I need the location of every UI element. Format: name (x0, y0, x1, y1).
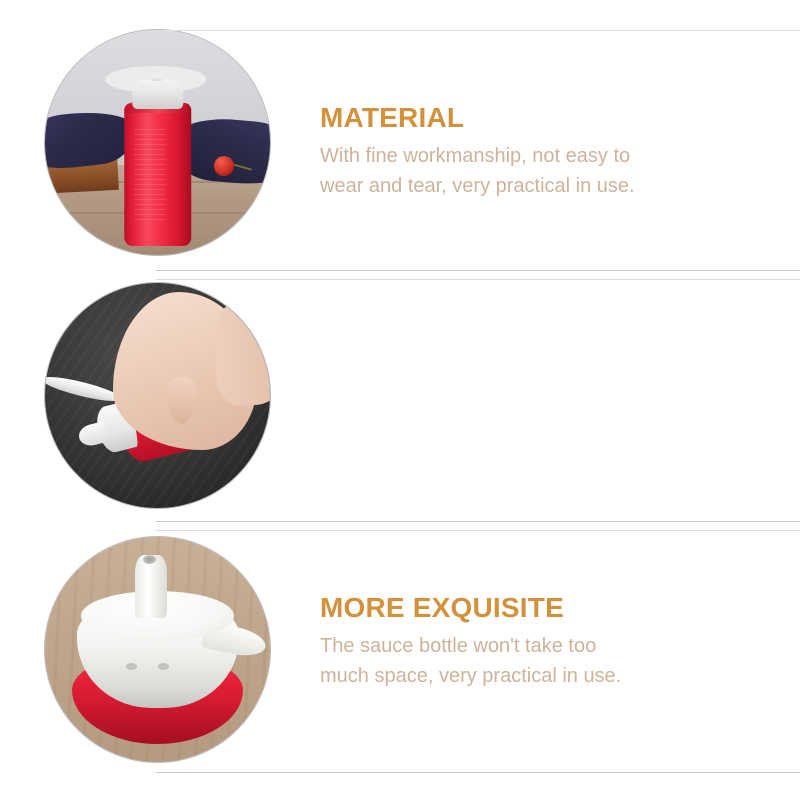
photo-scene-1 (45, 30, 270, 255)
feature-heading-material: MATERIAL (320, 101, 740, 135)
body-line: wear and tear, very practical in use. (320, 171, 740, 201)
red-squeeze-bottle (124, 80, 192, 247)
feature-row-material: MATERIAL With fine workmanship, not easy… (0, 15, 800, 270)
cap-vent-right (158, 663, 169, 670)
feature-body-material: With fine workmanship, not easy to wear … (320, 141, 740, 201)
section-divider-3 (156, 772, 800, 773)
cap-vent-left (126, 663, 137, 670)
hand-wrist (216, 301, 270, 405)
red-squeeze-bottle-on-table-photo (44, 29, 271, 256)
feature-text-material: MATERIAL With fine workmanship, not easy… (320, 101, 740, 201)
hand-holding-bottle-photo (44, 282, 271, 509)
bottle-body (124, 103, 192, 246)
bottle-nozzle (135, 555, 167, 618)
feature-row-exquisite: MORE EXQUISITE The sauce bottle won't ta… (0, 268, 800, 523)
feature-row-practical: PRACTICAL Perfect for holding all condim… (0, 522, 800, 777)
bottle-nozzle (152, 75, 162, 82)
product-feature-infographic: MATERIAL With fine workmanship, not easy… (0, 0, 800, 800)
bottle-texture-ribs (135, 129, 166, 224)
hand-thumb (167, 377, 196, 424)
bottle-white-cap (132, 80, 183, 110)
body-line: With fine workmanship, not easy to (320, 141, 740, 171)
top-hairline (156, 30, 800, 31)
photo-scene-2 (45, 283, 270, 508)
photo-scene-3 (45, 537, 270, 762)
bottle-cap-closeup-photo (44, 536, 271, 763)
